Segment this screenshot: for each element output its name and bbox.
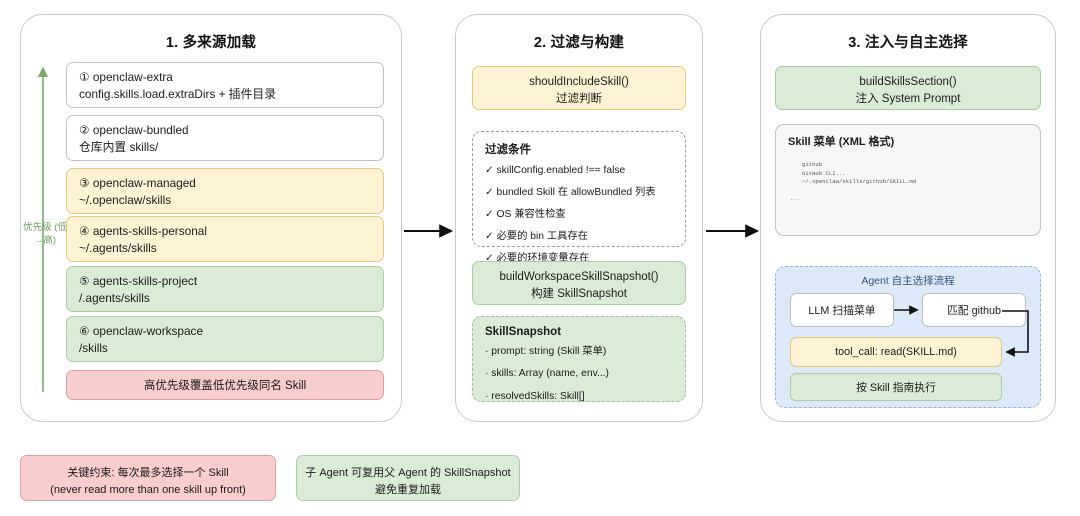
source-path: /.agents/skills [79, 290, 371, 307]
fn-name: buildSkillsSection() [787, 74, 1029, 91]
diagram-canvas: 1. 多来源加载 优先级 (低→高) ① openclaw-extra conf… [0, 0, 1080, 516]
panel-3-title: 3. 注入与自主选择 [761, 31, 1055, 52]
filter-condition-item: ✓ OS 兼容性检查 [485, 208, 673, 221]
connector-arrow-2-to-3 [706, 220, 762, 242]
filter-conditions-box: 过滤条件 ✓ skillConfig.enabled !== false ✓ b… [472, 131, 686, 247]
agent-step-label: tool_call: read(SKILL.md) [835, 346, 957, 358]
legend-key-constraint: 关键约束: 每次最多选择一个 Skill (never read more th… [20, 455, 276, 501]
agent-region-title: Agent 自主选择流程 [776, 273, 1040, 288]
skill-snapshot-field: · resolvedSkills: Skill[] [485, 390, 673, 403]
source-name: ⑤ agents-skills-project [79, 273, 371, 290]
fn-name: shouldIncludeSkill() [484, 74, 674, 91]
source-box-agents-skills-project[interactable]: ⑤ agents-skills-project /.agents/skills [66, 266, 384, 312]
filter-condition-item: ✓ 必要的 bin 工具存在 [485, 230, 673, 243]
should-include-skill-box[interactable]: shouldIncludeSkill() 过滤判断 [472, 66, 686, 110]
filter-condition-item: ✓ skillConfig.enabled !== false [485, 164, 673, 177]
legend-line1: 子 Agent 可复用父 Agent 的 SkillSnapshot [297, 465, 519, 482]
connector-arrow-1-to-2 [404, 220, 456, 242]
build-skills-section-box[interactable]: buildSkillsSection() 注入 System Prompt [775, 66, 1041, 110]
filter-conditions-title: 过滤条件 [485, 141, 673, 157]
legend-snapshot-reuse: 子 Agent 可复用父 Agent 的 SkillSnapshot 避免重复加… [296, 455, 520, 501]
override-note-text: 高优先级覆盖低优先级同名 Skill [144, 380, 306, 392]
agent-step-scan-menu[interactable]: LLM 扫描菜单 [790, 293, 894, 327]
agent-arrow-match-to-toolcall-icon [1002, 307, 1044, 363]
fn-desc: 过滤判断 [484, 91, 674, 108]
source-box-openclaw-workspace[interactable]: ⑥ openclaw-workspace /skills [66, 316, 384, 362]
source-name: ⑥ openclaw-workspace [79, 323, 371, 340]
source-path: ~/.agents/skills [79, 240, 371, 257]
agent-autoselect-region: Agent 自主选择流程 LLM 扫描菜单 匹配 github tool_cal… [775, 266, 1041, 408]
agent-arrow-scan-to-match-icon [894, 301, 922, 319]
fn-name: buildWorkspaceSkillSnapshot() [484, 269, 674, 286]
skill-menu-xml-code: github GitHub CLI... ~/.openclaw/skills/… [802, 161, 1028, 187]
skill-menu-xml-title: Skill 菜单 (XML 格式) [788, 133, 1028, 149]
build-workspace-skill-snapshot-box[interactable]: buildWorkspaceSkillSnapshot() 构建 SkillSn… [472, 261, 686, 305]
priority-label-line1: 优先级 [23, 222, 52, 233]
skill-menu-xml-box: Skill 菜单 (XML 格式) github GitHub CLI... ~… [775, 124, 1041, 236]
skill-snapshot-field: · prompt: string (Skill 菜单) [485, 345, 673, 358]
fn-desc: 构建 SkillSnapshot [484, 286, 674, 303]
source-box-openclaw-bundled[interactable]: ② openclaw-bundled 仓库内置 skills/ [66, 115, 384, 161]
agent-step-label: 按 Skill 指南执行 [856, 379, 936, 395]
filter-condition-item: ✓ bundled Skill 在 allowBundled 列表 [485, 186, 673, 199]
source-box-openclaw-managed[interactable]: ③ openclaw-managed ~/.openclaw/skills [66, 168, 384, 214]
override-note-box: 高优先级覆盖低优先级同名 Skill [66, 370, 384, 400]
priority-axis-label: 优先级 (低→高) [22, 222, 68, 248]
skill-snapshot-fields-box: SkillSnapshot · prompt: string (Skill 菜单… [472, 316, 686, 402]
source-name: ① openclaw-extra [79, 69, 371, 86]
source-path: /skills [79, 340, 371, 357]
source-path: 仓库内置 skills/ [79, 139, 371, 156]
agent-step-tool-call[interactable]: tool_call: read(SKILL.md) [790, 337, 1002, 367]
agent-step-execute-guide[interactable]: 按 Skill 指南执行 [790, 373, 1002, 401]
skill-snapshot-field: · skills: Array (name, env...) [485, 367, 673, 380]
source-box-agents-skills-personal[interactable]: ④ agents-skills-personal ~/.agents/skill… [66, 216, 384, 262]
skill-menu-xml-ellipsis: ... [790, 195, 1028, 202]
panel-1-title: 1. 多来源加载 [21, 31, 401, 52]
source-path: ~/.openclaw/skills [79, 192, 371, 209]
source-box-openclaw-extra[interactable]: ① openclaw-extra config.skills.load.extr… [66, 62, 384, 108]
source-path: config.skills.load.extraDirs + 插件目录 [79, 86, 371, 103]
legend-line2: (never read more than one skill up front… [21, 482, 275, 499]
agent-step-label: LLM 扫描菜单 [808, 302, 875, 318]
skill-snapshot-title: SkillSnapshot [485, 326, 673, 338]
fn-desc: 注入 System Prompt [787, 91, 1029, 108]
legend-line1: 关键约束: 每次最多选择一个 Skill [21, 465, 275, 482]
source-name: ④ agents-skills-personal [79, 223, 371, 240]
source-name: ③ openclaw-managed [79, 175, 371, 192]
agent-step-label: 匹配 github [947, 302, 1001, 318]
panel-2-title: 2. 过滤与构建 [456, 31, 702, 52]
legend-line2: 避免重复加载 [297, 482, 519, 499]
source-name: ② openclaw-bundled [79, 122, 371, 139]
